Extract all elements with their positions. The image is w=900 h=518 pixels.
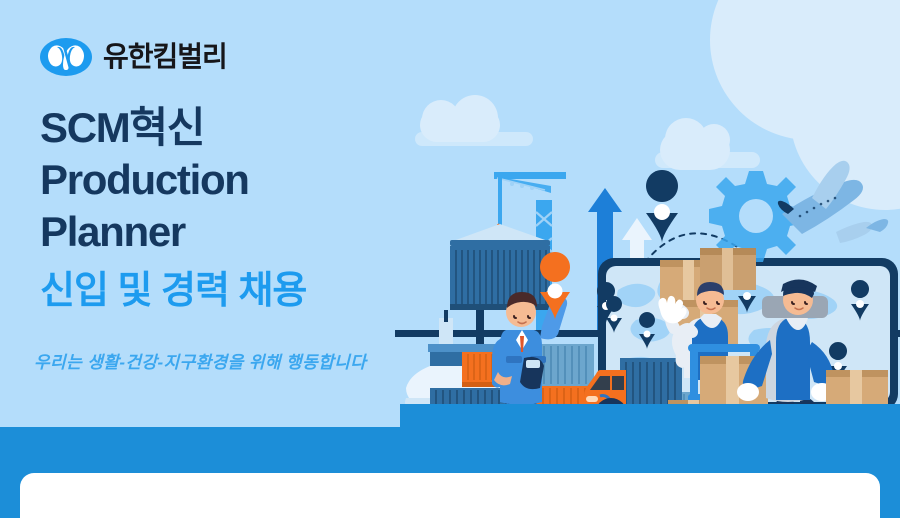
recruitment-subtitle: 신입 및 경력 채용 (40, 272, 306, 312)
map-pin-icon (646, 170, 678, 243)
airplane-icon (778, 161, 888, 243)
bottom-content-card (20, 473, 880, 518)
dock-floor (400, 404, 900, 427)
brand-logo[interactable]: 유한킴벌리 (40, 38, 227, 76)
brand-tagline: 우리는 생활-건강-지구환경을 위해 행동합니다 (34, 348, 366, 373)
page-title: SCM혁신 Production Planner (40, 102, 249, 258)
recruitment-banner: 유한킴벌리 SCM혁신 Production Planner 신입 및 경력 채… (0, 0, 900, 518)
yuhan-kimberly-logo-icon (40, 38, 92, 76)
brand-name: 유한킴벌리 (103, 43, 227, 71)
